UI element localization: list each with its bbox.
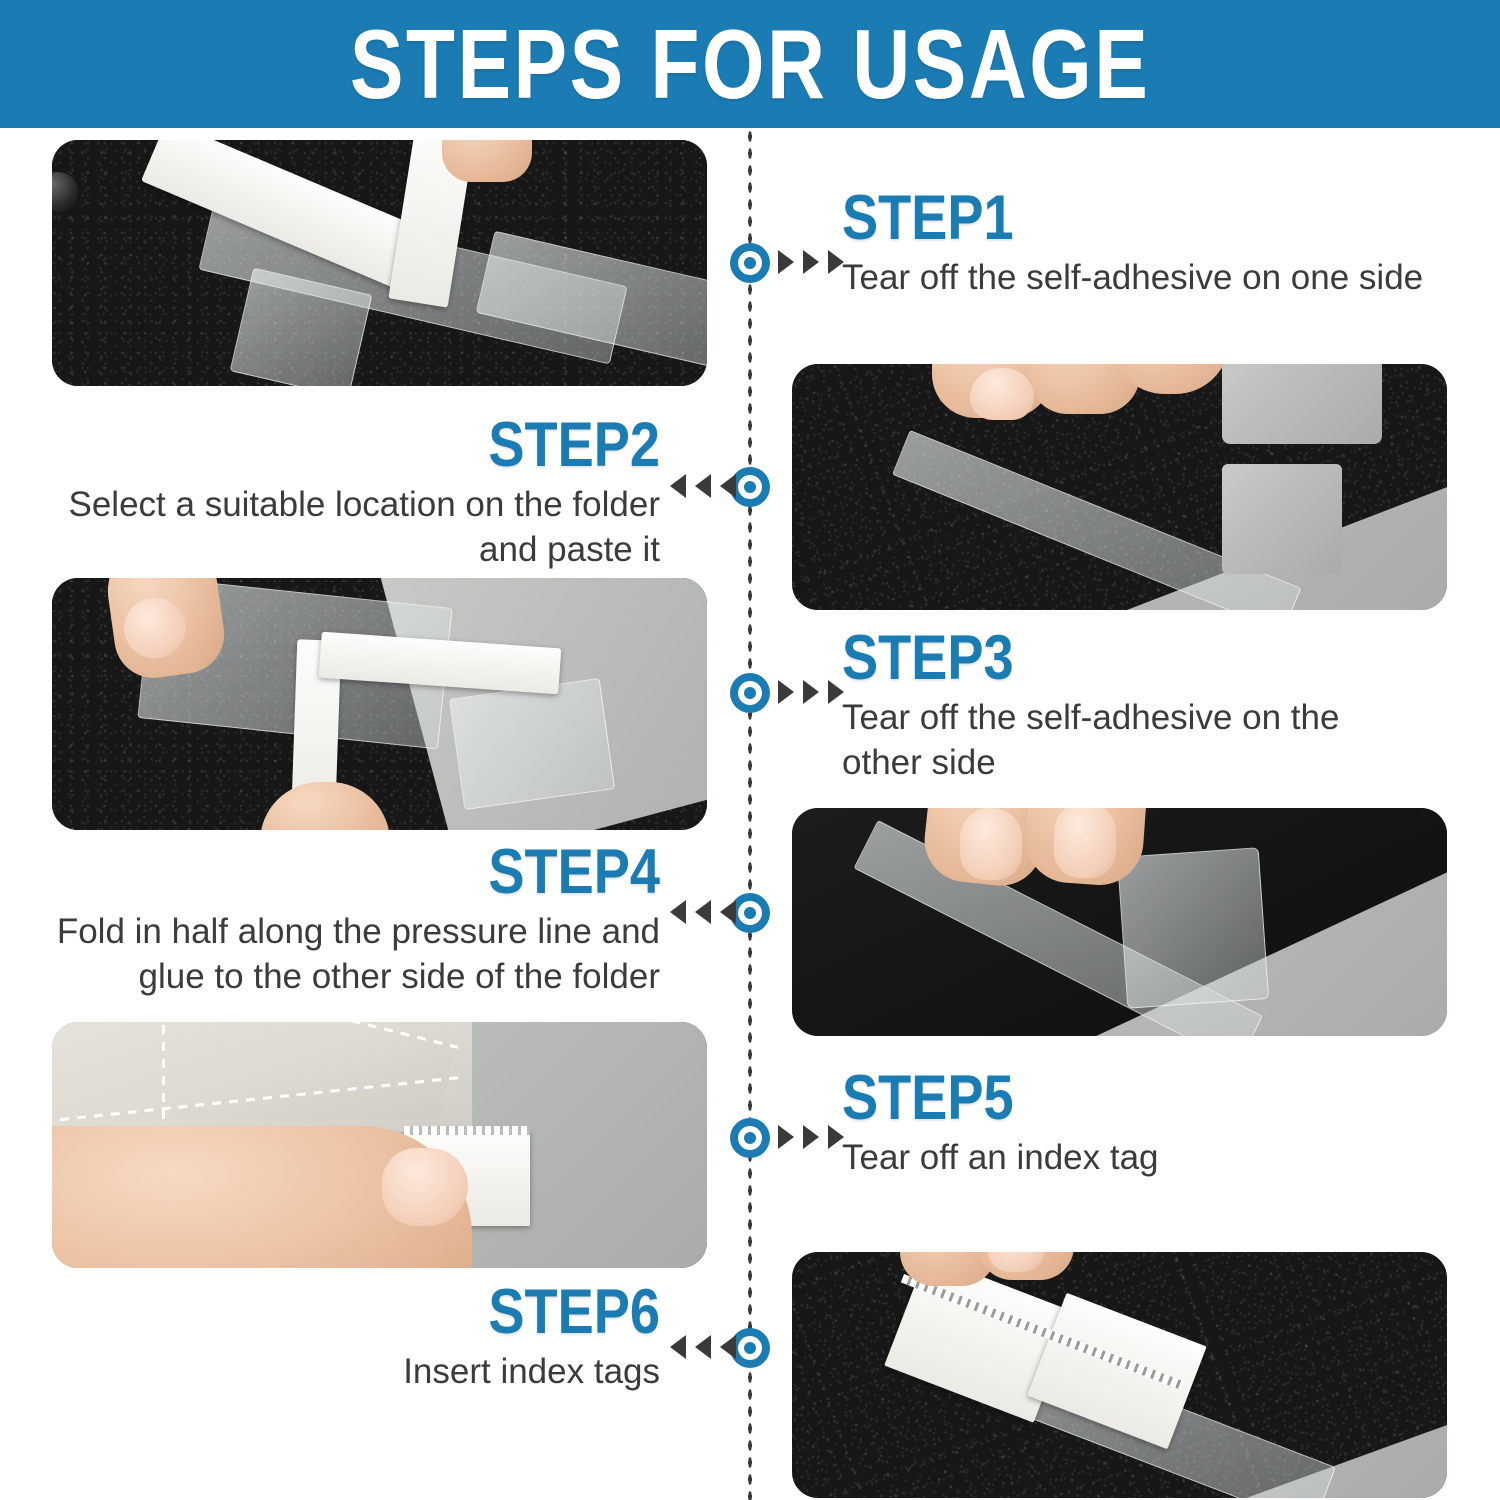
photo-step6 <box>792 1252 1447 1498</box>
photo-step1 <box>52 140 707 386</box>
step-arrows-2 <box>670 474 736 498</box>
marker-dot <box>744 481 756 493</box>
arrow-right-icon <box>778 1125 794 1149</box>
arrow-left-icon <box>695 900 711 924</box>
step-title-1: STEP1 <box>842 188 1401 250</box>
step-description-5: Tear off an index tag <box>842 1136 1442 1181</box>
marker-ring <box>738 681 762 705</box>
photo-step5 <box>52 1022 707 1268</box>
marker-dot <box>744 687 756 699</box>
step-block-4: STEP4 Fold in half along the pressure li… <box>20 842 660 999</box>
step-arrows-1 <box>778 250 844 274</box>
step-description-2: Select a suitable location on the folder… <box>60 483 660 573</box>
step-arrows-4 <box>670 900 736 924</box>
step-title-5: STEP5 <box>842 1068 1358 1130</box>
step-block-2: STEP2 Select a suitable location on the … <box>60 415 660 572</box>
step-block-1: STEP1 Tear off the self-adhesive on one … <box>842 188 1492 301</box>
step-marker-3 <box>730 673 770 713</box>
photo-step4 <box>792 808 1447 1036</box>
arrow-right-icon <box>778 680 794 704</box>
marker-dot <box>744 907 756 919</box>
marker-ring <box>738 1126 762 1150</box>
arrow-left-icon <box>670 900 686 924</box>
photo-step3 <box>52 578 707 830</box>
step-title-2: STEP2 <box>144 415 660 477</box>
arrow-right-icon <box>803 250 819 274</box>
page-title: STEPS FOR USAGE <box>350 8 1150 121</box>
step-arrows-5 <box>778 1125 844 1149</box>
marker-ring <box>738 901 762 925</box>
marker-dot <box>744 1132 756 1144</box>
step-block-6: STEP6 Insert index tags <box>60 1282 660 1395</box>
arrow-right-icon <box>803 680 819 704</box>
arrow-right-icon <box>803 1125 819 1149</box>
timeline-dotted-line <box>747 128 753 1500</box>
step-arrows-6 <box>670 1335 736 1359</box>
step-arrows-3 <box>778 680 844 704</box>
marker-ring <box>738 251 762 275</box>
step-marker-6 <box>730 1328 770 1368</box>
arrow-left-icon <box>695 474 711 498</box>
step-description-6: Insert index tags <box>60 1350 660 1395</box>
step-marker-5 <box>730 1118 770 1158</box>
arrow-right-icon <box>778 250 794 274</box>
arrow-left-icon <box>670 1335 686 1359</box>
marker-dot <box>744 1342 756 1354</box>
arrow-left-icon <box>720 1335 736 1359</box>
step-description-4: Fold in half along the pressure line and… <box>20 910 660 1000</box>
step-title-6: STEP6 <box>144 1282 660 1344</box>
arrow-left-icon <box>720 900 736 924</box>
infographic-page: STEPS FOR USAGE STEP1 Tear off the <box>0 0 1500 1500</box>
marker-dot <box>744 257 756 269</box>
step-block-3: STEP3 Tear off the self-adhesive on the … <box>842 628 1412 785</box>
step-title-3: STEP3 <box>842 628 1332 690</box>
arrow-left-icon <box>670 474 686 498</box>
header-banner: STEPS FOR USAGE <box>0 0 1500 128</box>
step-block-5: STEP5 Tear off an index tag <box>842 1068 1442 1181</box>
step-description-3: Tear off the self-adhesive on the other … <box>842 696 1412 786</box>
photo-step2 <box>792 364 1447 610</box>
marker-ring <box>738 475 762 499</box>
marker-ring <box>738 1336 762 1360</box>
step-marker-1 <box>730 243 770 283</box>
arrow-left-icon <box>720 474 736 498</box>
step-marker-4 <box>730 893 770 933</box>
step-title-4: STEP4 <box>110 842 660 904</box>
arrow-left-icon <box>695 1335 711 1359</box>
step-marker-2 <box>730 467 770 507</box>
step-description-1: Tear off the self-adhesive on one side <box>842 256 1492 301</box>
